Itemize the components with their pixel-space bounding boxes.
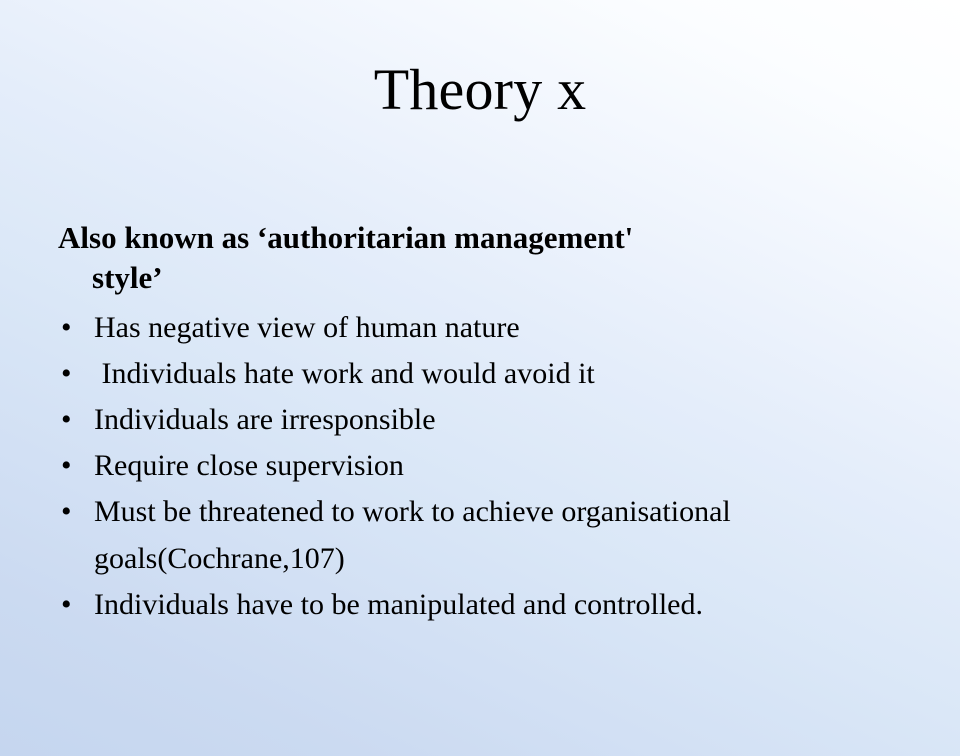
- slide-body: Also known as ‘authoritarian management'…: [56, 218, 906, 628]
- list-item-text: Individuals are irresponsible: [94, 397, 906, 443]
- list-item: • Has negative view of human nature: [56, 305, 906, 351]
- bullet-icon: •: [61, 351, 72, 397]
- slide-title: Theory x: [0, 58, 960, 122]
- list-item-text: Has negative view of human nature: [94, 305, 906, 351]
- lead-heading: Also known as ‘authoritarian management'…: [56, 218, 906, 299]
- slide: Theory x Also known as ‘authoritarian ma…: [0, 0, 960, 756]
- list-item-text: Must be threatened to work to achieve or…: [94, 489, 906, 581]
- bullet-icon: •: [61, 443, 72, 489]
- bullet-icon: •: [61, 489, 72, 535]
- bullet-icon: •: [61, 582, 72, 628]
- lead-heading-line-2: style’: [58, 258, 906, 298]
- bullet-icon: •: [61, 305, 72, 351]
- list-item: • Individuals hate work and would avoid …: [56, 351, 906, 397]
- bullet-list: • Has negative view of human nature • In…: [56, 305, 906, 628]
- list-item-text: Individuals have to be manipulated and c…: [94, 582, 906, 628]
- list-item: • Individuals have to be manipulated and…: [56, 582, 906, 628]
- list-item: • Individuals are irresponsible: [56, 397, 906, 443]
- list-item-text: Require close supervision: [94, 443, 906, 489]
- list-item: • Must be threatened to work to achieve …: [56, 489, 906, 581]
- bullet-icon: •: [61, 397, 72, 443]
- list-item-text: Individuals hate work and would avoid it: [94, 351, 906, 397]
- list-item: • Require close supervision: [56, 443, 906, 489]
- lead-heading-line-1: Also known as ‘authoritarian management': [58, 220, 633, 255]
